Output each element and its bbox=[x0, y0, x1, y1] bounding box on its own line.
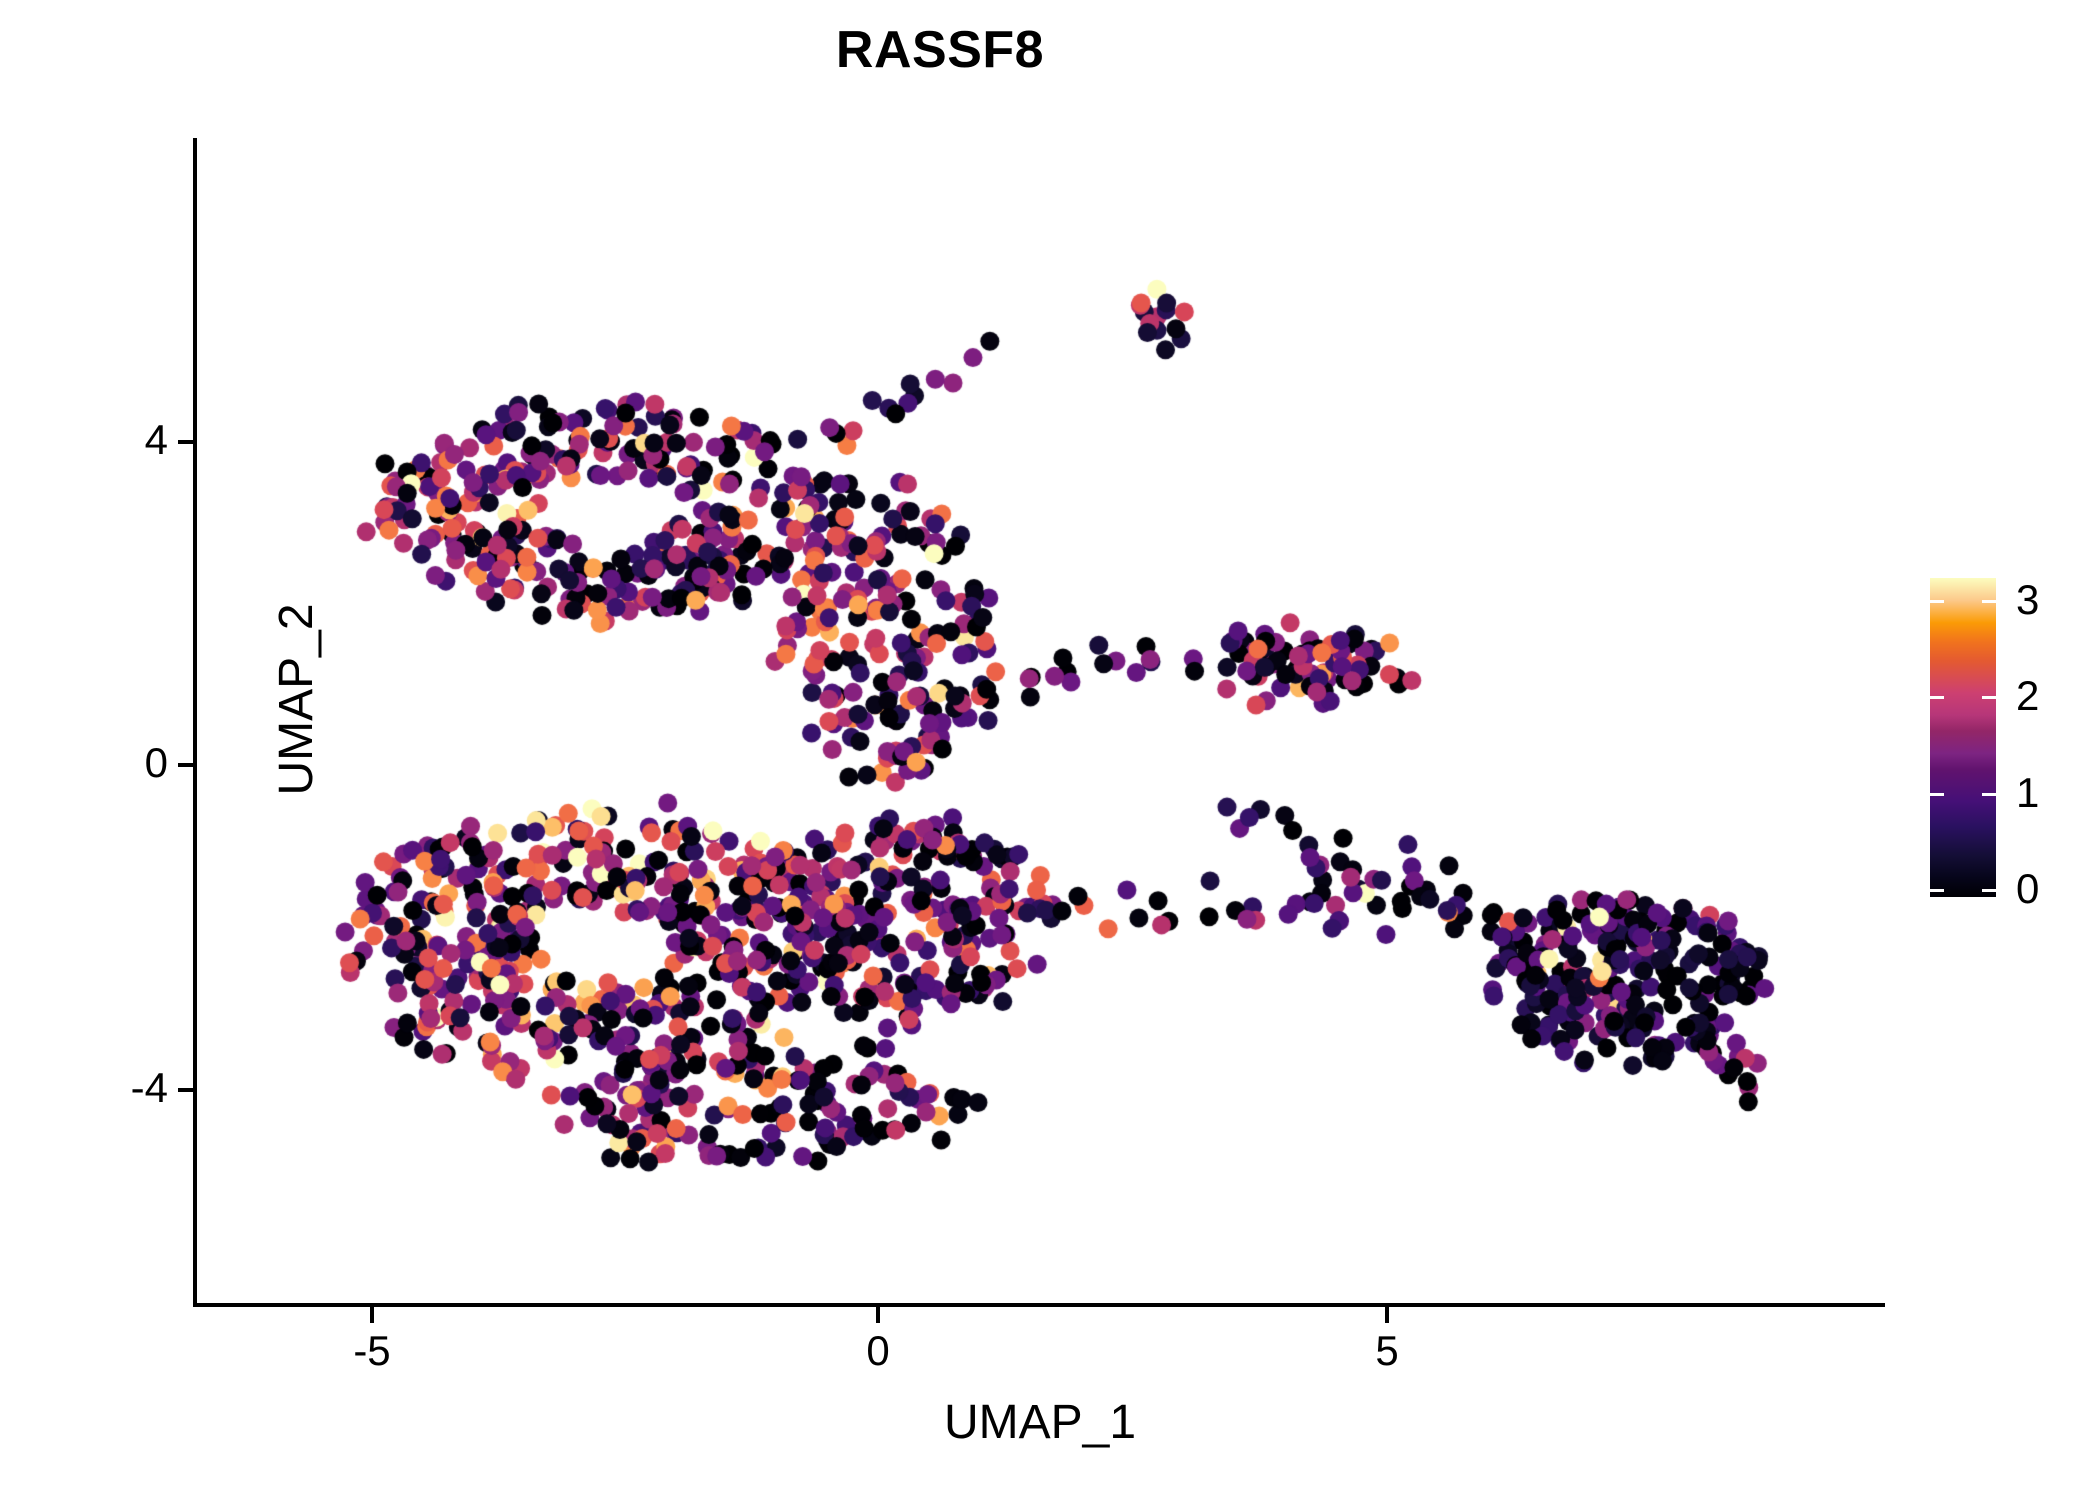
page-title: RASSF8 bbox=[0, 20, 1880, 80]
feature-plot-figure: RASSF8 4 0 -4 -5 0 5 UMAP_1 UMAP_2 3 2 1… bbox=[0, 0, 2100, 1500]
colorbar-label-3: 3 bbox=[2016, 579, 2039, 621]
colorbar-tick-0-right bbox=[1982, 889, 1996, 892]
scatter-plot-canvas bbox=[195, 138, 1885, 1305]
y-tick-mark-0 bbox=[178, 763, 194, 767]
colorbar-tick-1-left bbox=[1930, 793, 1944, 796]
y-tick-label-0: 0 bbox=[88, 742, 168, 784]
x-axis-title: UMAP_1 bbox=[195, 1395, 1885, 1450]
x-tick-mark-neg5 bbox=[370, 1307, 374, 1323]
colorbar-label-2: 2 bbox=[2016, 675, 2039, 717]
x-axis-line bbox=[193, 1303, 1885, 1307]
y-tick-label-neg4: -4 bbox=[88, 1067, 168, 1109]
colorbar-label-1: 1 bbox=[2016, 772, 2039, 814]
colorbar-tick-3-left bbox=[1930, 600, 1944, 603]
colorbar-tick-2-right bbox=[1982, 696, 1996, 699]
colorbar-tick-1-right bbox=[1982, 793, 1996, 796]
x-tick-mark-0 bbox=[876, 1307, 880, 1323]
colorbar-tick-2-left bbox=[1930, 696, 1944, 699]
y-axis-title: UMAP_2 bbox=[269, 116, 324, 1283]
y-tick-label-4: 4 bbox=[88, 419, 168, 461]
plot-panel bbox=[195, 138, 1885, 1305]
x-tick-label-5: 5 bbox=[1327, 1330, 1447, 1372]
colorbar-label-0: 0 bbox=[2016, 868, 2039, 910]
y-axis-line bbox=[193, 138, 197, 1305]
y-tick-mark-4 bbox=[178, 440, 194, 444]
y-tick-mark-neg4 bbox=[178, 1088, 194, 1092]
colorbar-gradient bbox=[1930, 578, 1996, 897]
colorbar-tick-3-right bbox=[1982, 600, 1996, 603]
colorbar-legend: 3 2 1 0 bbox=[1930, 578, 2090, 908]
x-tick-label-neg5: -5 bbox=[312, 1330, 432, 1372]
x-tick-label-0: 0 bbox=[818, 1330, 938, 1372]
colorbar-tick-0-left bbox=[1930, 889, 1944, 892]
x-tick-mark-5 bbox=[1385, 1307, 1389, 1323]
